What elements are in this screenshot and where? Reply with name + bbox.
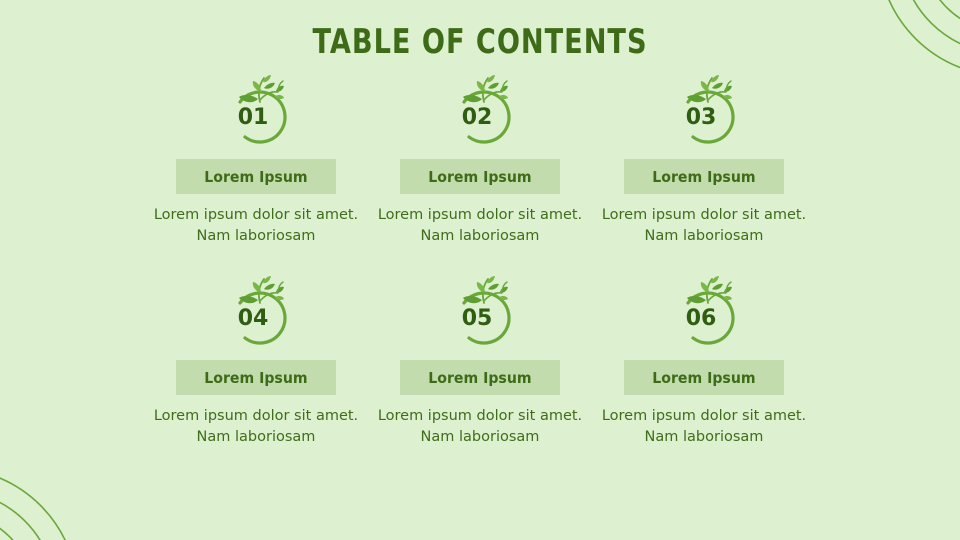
toc-item[interactable]: 02 Lorem Ipsum Lorem ipsum dolor sit ame… [368, 72, 592, 273]
toc-item[interactable]: 01 Lorem Ipsum Lorem ipsum dolor sit ame… [144, 72, 368, 273]
item-description: Lorem ipsum dolor sit amet. Nam laborios… [151, 406, 361, 447]
toc-grid: 01 Lorem Ipsum Lorem ipsum dolor sit ame… [0, 72, 960, 474]
sprout-circle-icon: 03 [665, 72, 743, 148]
item-label: Lorem Ipsum [652, 369, 755, 387]
item-number: 03 [665, 72, 743, 148]
page-title: TABLE OF CONTENTS [96, 22, 864, 62]
item-description: Lorem ipsum dolor sit amet. Nam laborios… [599, 205, 809, 246]
sprout-circle-icon: 06 [665, 273, 743, 349]
item-label-chip[interactable]: Lorem Ipsum [624, 159, 784, 194]
item-description: Lorem ipsum dolor sit amet. Nam laborios… [599, 406, 809, 447]
item-label: Lorem Ipsum [428, 168, 531, 186]
toc-item[interactable]: 04 Lorem Ipsum Lorem ipsum dolor sit ame… [144, 273, 368, 474]
item-label-chip[interactable]: Lorem Ipsum [400, 159, 560, 194]
item-number: 02 [441, 72, 519, 148]
item-description: Lorem ipsum dolor sit amet. Nam laborios… [375, 205, 585, 246]
slide-canvas: TABLE OF CONTENTS 01 [0, 0, 960, 540]
sprout-circle-icon: 04 [217, 273, 295, 349]
item-number: 04 [217, 273, 295, 349]
toc-item[interactable]: 03 Lorem Ipsum Lorem ipsum dolor sit ame… [592, 72, 816, 273]
item-number: 06 [665, 273, 743, 349]
item-label: Lorem Ipsum [204, 168, 307, 186]
toc-item[interactable]: 05 Lorem Ipsum Lorem ipsum dolor sit ame… [368, 273, 592, 474]
sprout-circle-icon: 05 [441, 273, 519, 349]
item-label-chip[interactable]: Lorem Ipsum [176, 159, 336, 194]
item-label: Lorem Ipsum [204, 369, 307, 387]
sprout-circle-icon: 01 [217, 72, 295, 148]
toc-item[interactable]: 06 Lorem Ipsum Lorem ipsum dolor sit ame… [592, 273, 816, 474]
item-label: Lorem Ipsum [652, 168, 755, 186]
sprout-circle-icon: 02 [441, 72, 519, 148]
item-label-chip[interactable]: Lorem Ipsum [176, 360, 336, 395]
item-label: Lorem Ipsum [428, 369, 531, 387]
item-number: 05 [441, 273, 519, 349]
item-description: Lorem ipsum dolor sit amet. Nam laborios… [375, 406, 585, 447]
item-label-chip[interactable]: Lorem Ipsum [624, 360, 784, 395]
item-label-chip[interactable]: Lorem Ipsum [400, 360, 560, 395]
item-number: 01 [217, 72, 295, 148]
item-description: Lorem ipsum dolor sit amet. Nam laborios… [151, 205, 361, 246]
